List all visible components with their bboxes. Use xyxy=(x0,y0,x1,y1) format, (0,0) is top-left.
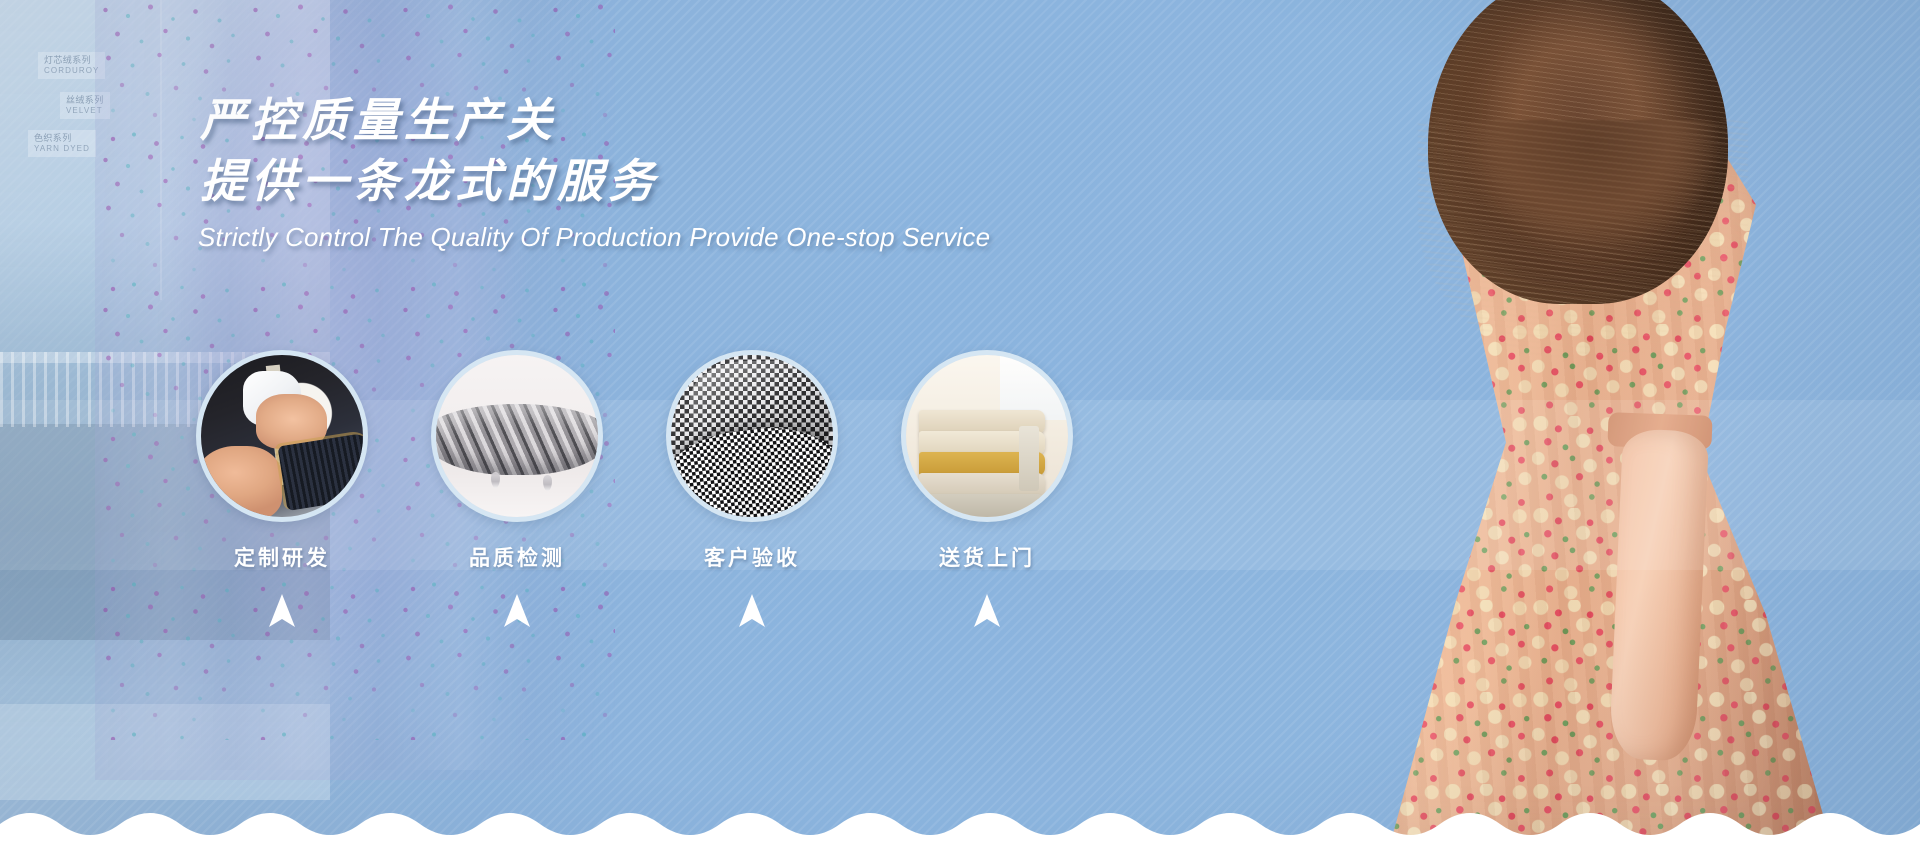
upper-hand-shape xyxy=(256,394,327,449)
yarn-twist-icon xyxy=(436,355,598,517)
yarn-drip-2 xyxy=(543,475,552,491)
fabric-roll-side xyxy=(1019,426,1038,491)
up-chevron-icon xyxy=(504,594,530,630)
step-3-label: 客户验收 xyxy=(666,542,838,572)
yarn-drip-1 xyxy=(491,472,500,488)
signage-yarn-dyed: 色织系列 YARN DYED xyxy=(28,130,96,157)
wave-shape xyxy=(0,790,1920,850)
up-chevron-icon xyxy=(739,594,765,630)
step-3-marker xyxy=(666,594,838,630)
step-2-marker xyxy=(431,594,603,630)
up-chevron-icon xyxy=(974,594,1000,630)
step-item-2[interactable]: 品质检测 xyxy=(431,350,611,630)
leather-strap-shape xyxy=(308,446,344,488)
step-4-marker xyxy=(901,594,1073,630)
step-3-circle[interactable] xyxy=(666,350,838,522)
step-2-circle[interactable] xyxy=(431,350,603,522)
twisted-yarn-shape xyxy=(431,404,603,475)
folded-fabric-stack-icon xyxy=(906,355,1068,517)
page-title: 严控质量生产关 提供一条龙式的服务 xyxy=(200,90,659,211)
model-arm xyxy=(1609,428,1709,761)
signage-corduroy-en: CORDUROY xyxy=(44,66,99,75)
step-item-1[interactable]: 定制研发 xyxy=(196,350,376,630)
fabric-fold-highlight xyxy=(690,361,833,458)
subtitle: Strictly Control The Quality Of Producti… xyxy=(198,222,990,253)
lower-hand-shape xyxy=(196,446,282,521)
signage-corduroy-cn: 灯芯绒系列 xyxy=(44,55,91,65)
step-4-label: 送货上门 xyxy=(901,542,1073,572)
tailor-measuring-icon xyxy=(201,355,363,517)
step-2-label: 品质检测 xyxy=(431,542,603,572)
bottom-wave-divider xyxy=(0,790,1920,850)
hero-banner: 灯芯绒系列 CORDUROY 丝绒系列 VELVET 色织系列 YARN DYE… xyxy=(0,0,1920,850)
step-4-circle[interactable] xyxy=(901,350,1073,522)
step-item-3[interactable]: 客户验收 xyxy=(666,350,846,630)
up-chevron-icon xyxy=(269,594,295,630)
step-1-label: 定制研发 xyxy=(196,542,368,572)
signage-yarn-dyed-en: YARN DYED xyxy=(34,144,90,153)
step-1-circle[interactable] xyxy=(196,350,368,522)
houndstooth-fabric-icon xyxy=(671,355,833,517)
headline-line-1: 严控质量生产关 xyxy=(200,90,659,151)
signage-yarn-dyed-cn: 色织系列 xyxy=(34,133,72,143)
model-photo xyxy=(1160,0,1920,850)
headline-line-2: 提供一条龙式的服务 xyxy=(200,151,659,212)
fabric-stack-5 xyxy=(919,494,1045,518)
process-steps: 定制研发 品质检测 xyxy=(0,350,1250,650)
step-1-marker xyxy=(196,594,368,630)
step-item-4[interactable]: 送货上门 xyxy=(901,350,1081,630)
